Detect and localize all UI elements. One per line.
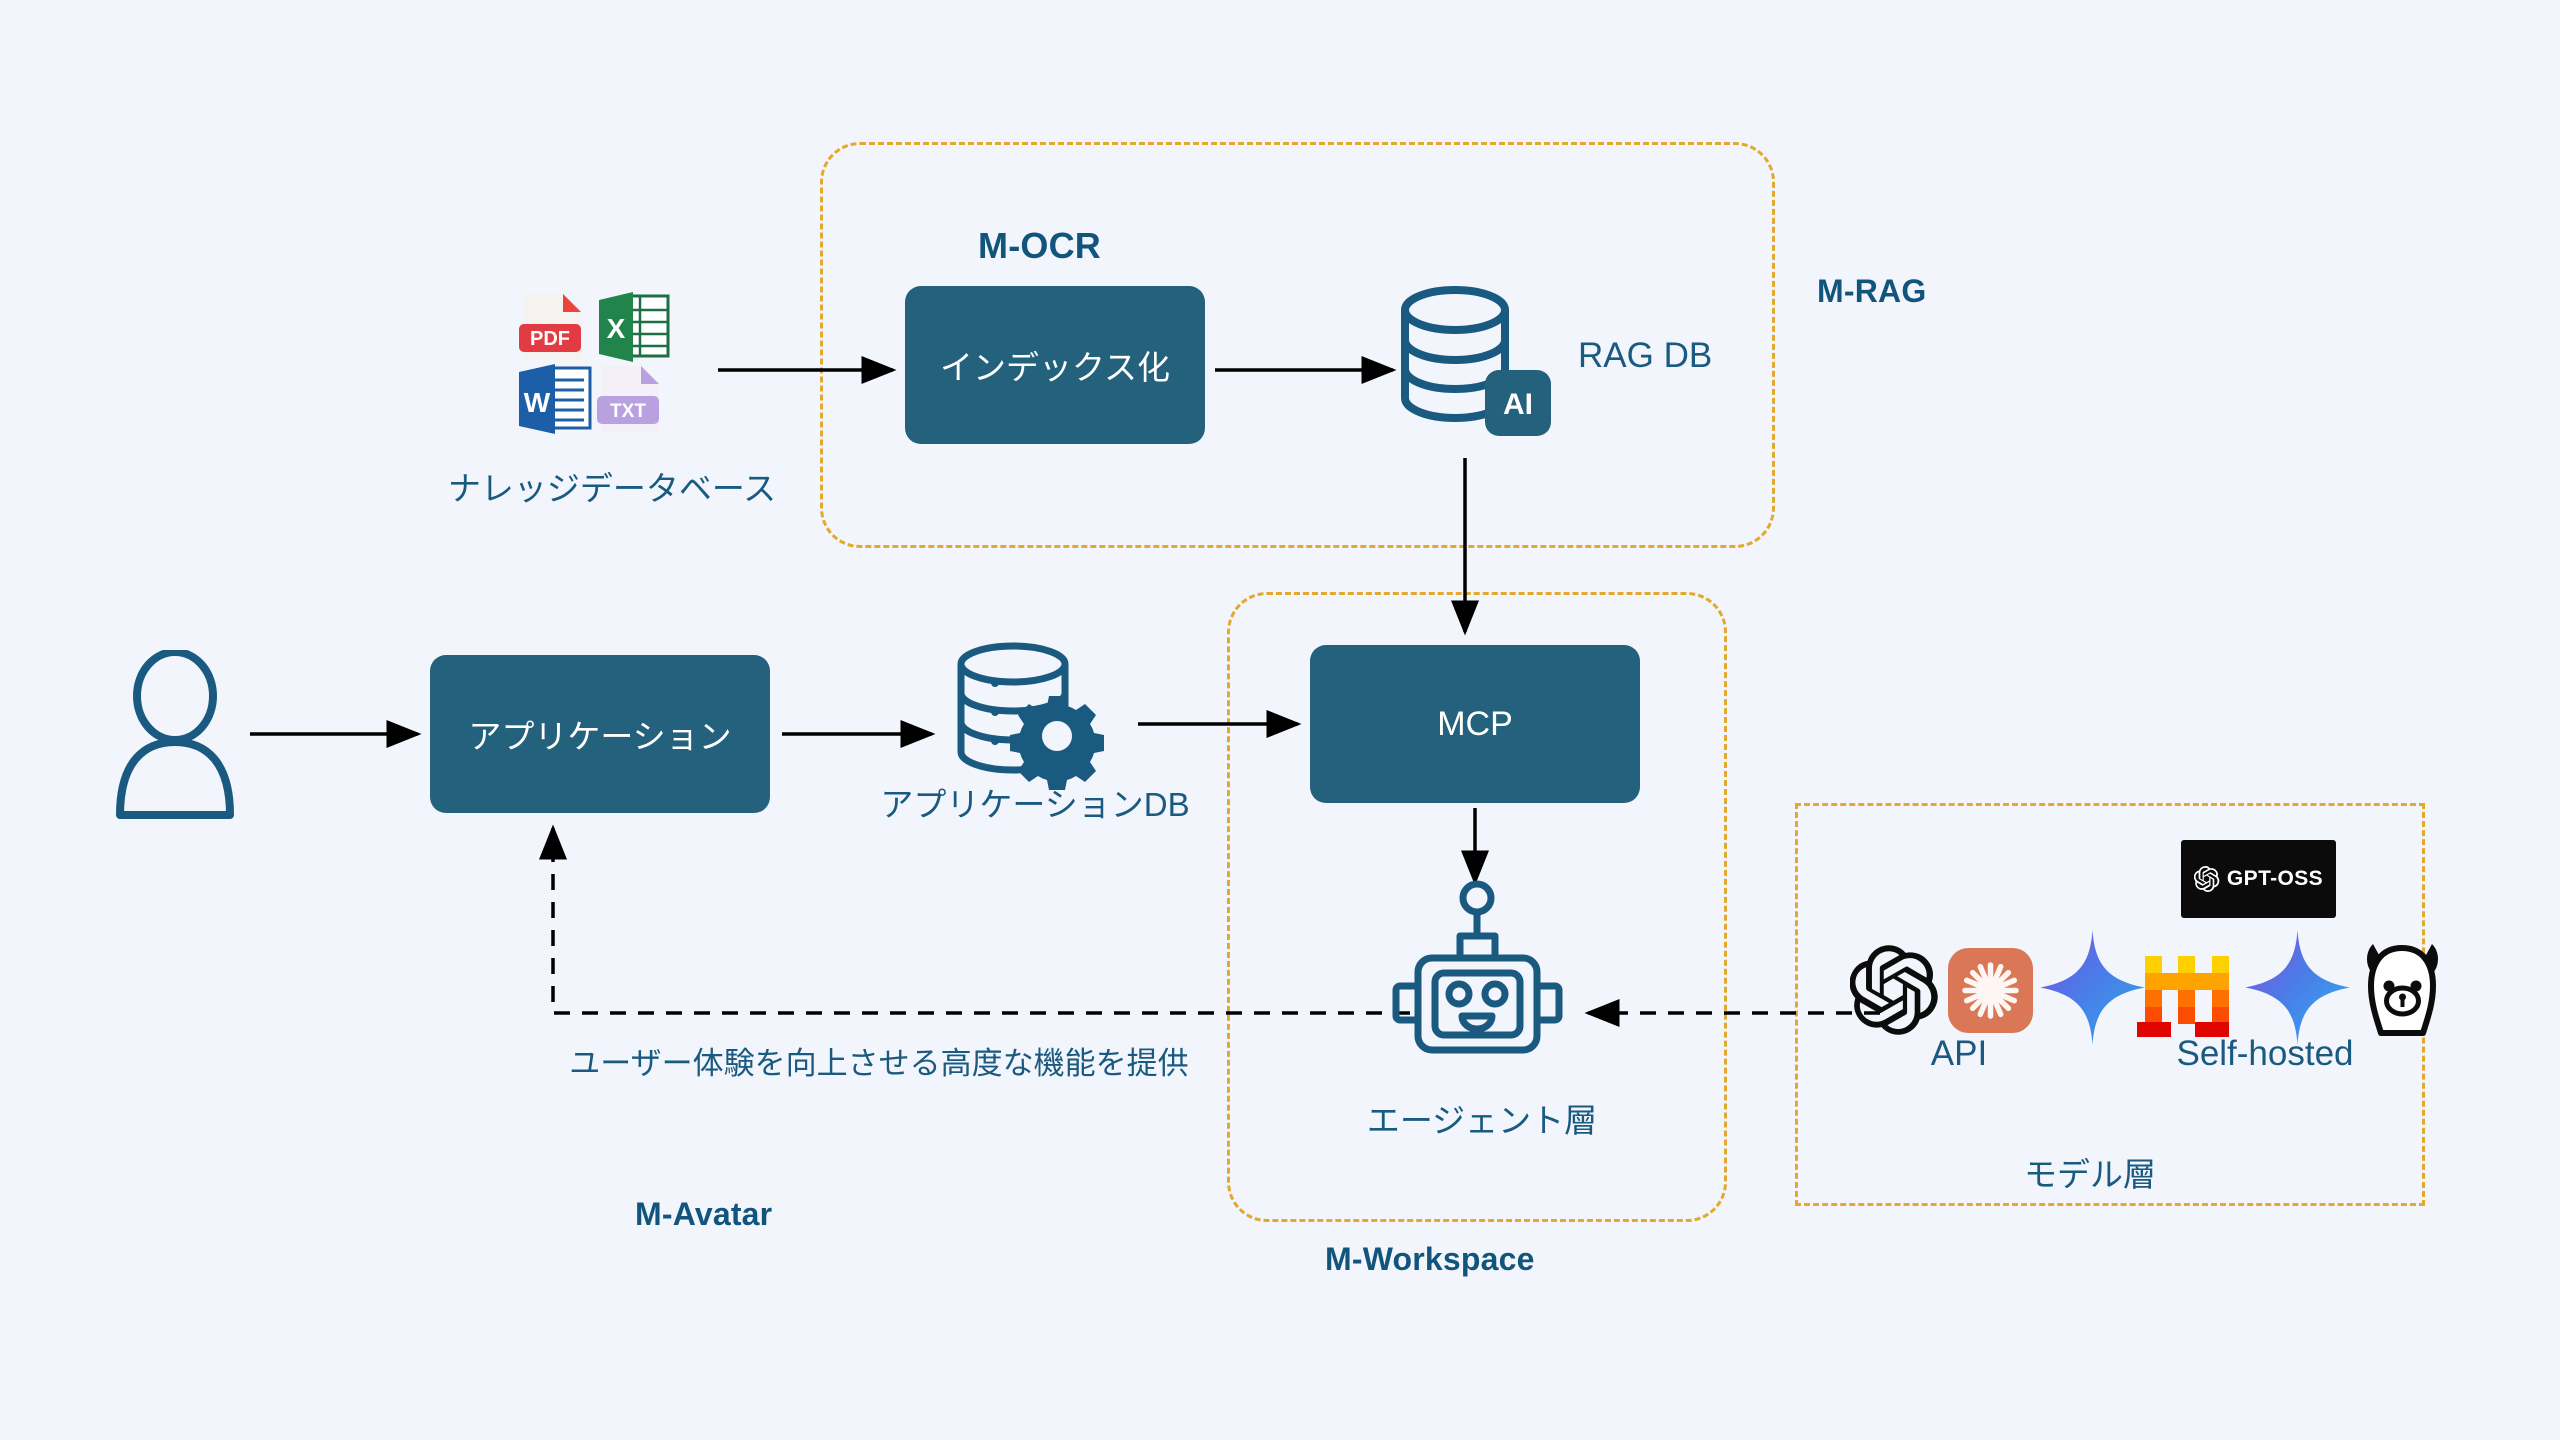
caption-feedback: ユーザー体験を向上させる高度な機能を提供 bbox=[569, 1038, 1188, 1083]
robot-agent-icon bbox=[1380, 880, 1575, 1070]
openai-mark-icon bbox=[2194, 866, 2220, 892]
gemma-sparkle-icon bbox=[2245, 930, 2350, 1045]
caption-rag-db: RAG DB bbox=[1578, 336, 1712, 376]
group-label-m-rag: M-RAG bbox=[1817, 273, 1926, 310]
openai-logo-icon bbox=[1850, 945, 1940, 1035]
mistral-logo-icon bbox=[2137, 948, 2237, 1038]
node-application-label: アプリケーション bbox=[468, 710, 731, 758]
svg-text:AI: AI bbox=[1503, 388, 1533, 421]
svg-text:W: W bbox=[524, 387, 551, 418]
claude-logo-icon bbox=[1948, 948, 2033, 1033]
group-label-m-workspace: M-Workspace bbox=[1325, 1241, 1535, 1278]
group-label-m-ocr: M-OCR bbox=[978, 225, 1101, 267]
caption-knowledge-db: ナレッジデータベース bbox=[448, 462, 776, 510]
node-indexing[interactable]: インデックス化 bbox=[905, 286, 1205, 444]
node-application[interactable]: アプリケーション bbox=[430, 655, 770, 813]
caption-agent-layer: エージェント層 bbox=[1367, 1094, 1597, 1142]
node-indexing-label: インデックス化 bbox=[940, 341, 1170, 389]
caption-model-layer: モデル層 bbox=[2024, 1148, 2156, 1196]
node-mcp[interactable]: MCP bbox=[1310, 645, 1640, 803]
group-label-m-avatar: M-Avatar bbox=[635, 1196, 772, 1233]
llama-logo-icon bbox=[2355, 938, 2450, 1038]
user-person-icon bbox=[110, 650, 240, 820]
gpt-oss-label: GPT-OSS bbox=[2227, 867, 2323, 891]
svg-text:TXT: TXT bbox=[610, 401, 646, 422]
node-mcp-label: MCP bbox=[1437, 705, 1513, 744]
database-gear-icon bbox=[940, 638, 1130, 798]
svg-text:PDF: PDF bbox=[530, 328, 570, 350]
svg-text:X: X bbox=[607, 313, 626, 344]
gemini-sparkle-icon bbox=[2040, 930, 2145, 1045]
gpt-oss-logo-icon: GPT-OSS bbox=[2181, 840, 2336, 918]
knowledge-file-icons: PDF X bbox=[515, 288, 695, 440]
txt-file-icon: TXT bbox=[593, 360, 673, 438]
caption-api: API bbox=[1931, 1034, 1987, 1074]
word-file-icon: W bbox=[515, 360, 595, 438]
pdf-file-icon: PDF bbox=[515, 288, 595, 366]
excel-file-icon: X bbox=[593, 288, 673, 366]
database-ai-icon: AI bbox=[1393, 278, 1573, 458]
